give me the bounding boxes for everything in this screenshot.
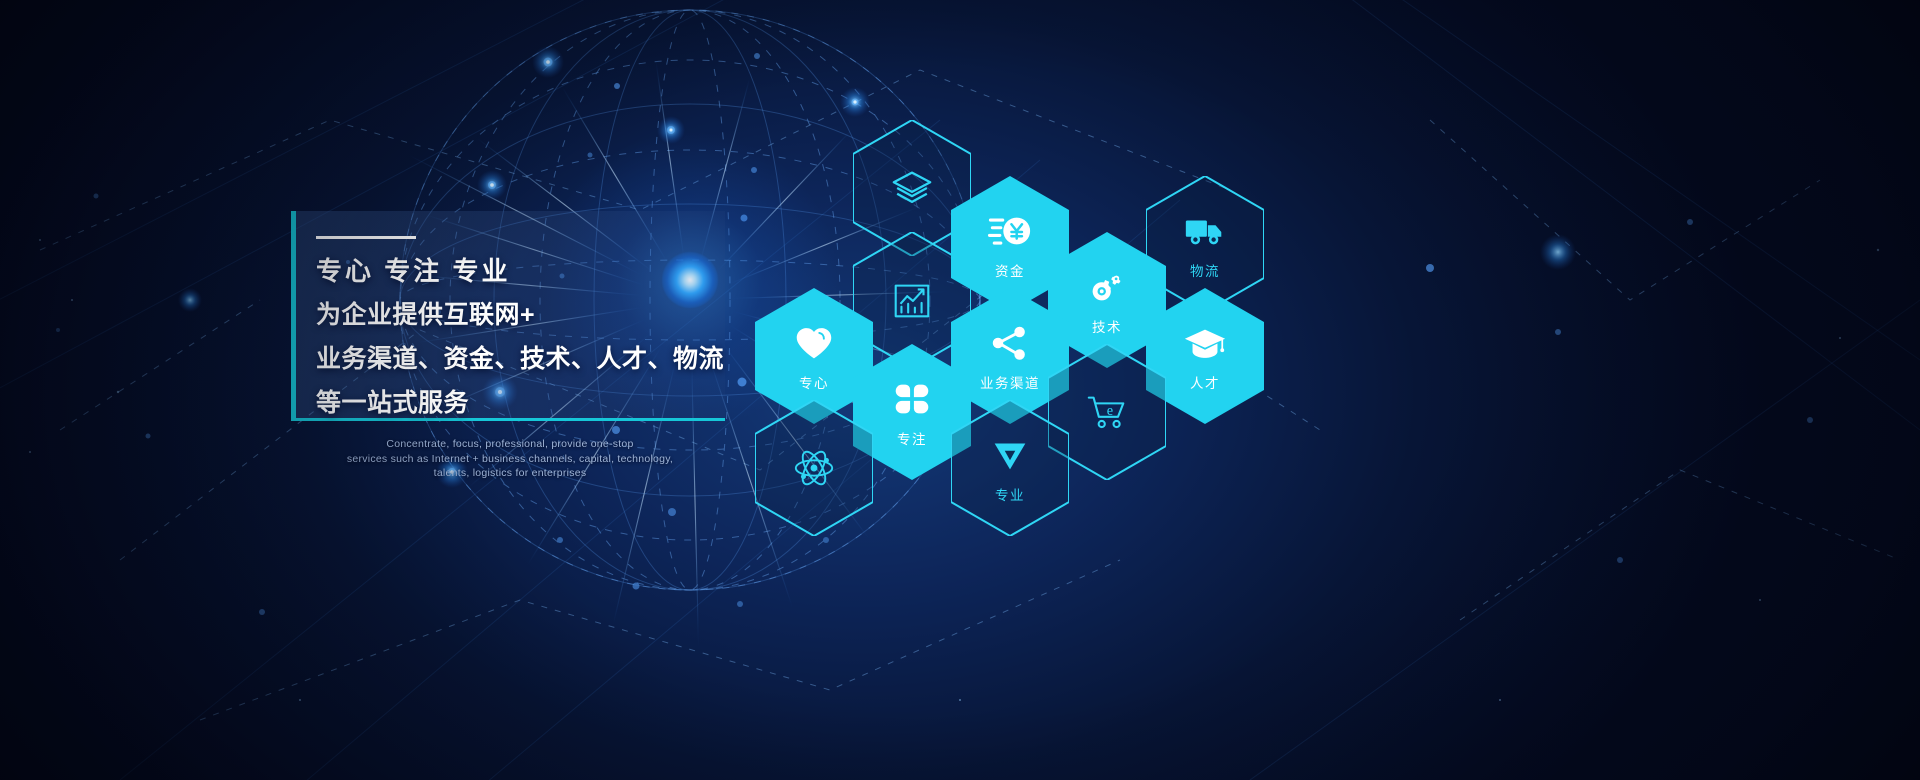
truck-icon — [1182, 208, 1228, 254]
gears-icon — [1084, 264, 1130, 310]
hex-label: 专注 — [897, 428, 927, 448]
diamond-icon — [987, 432, 1033, 478]
hex-label: 人才 — [1190, 372, 1220, 392]
atom-icon — [791, 445, 837, 491]
hex-label: 专心 — [799, 372, 829, 392]
hero-banner: 专心 专注 专业 为企业提供互联网+ 业务渠道、资金、技术、人才、物流 等一站式… — [0, 0, 1920, 780]
hex-tile-atom[interactable] — [755, 400, 873, 536]
hexagon-cluster: 资金 物流 技术 专心 业务渠道 人才 — [0, 0, 1920, 780]
heart-icon — [791, 320, 837, 366]
hex-label: 专业 — [995, 484, 1025, 504]
hex-label: 业务渠道 — [980, 372, 1040, 392]
layers-icon — [889, 165, 935, 211]
share-nodes-icon — [987, 320, 1033, 366]
growth-chart-icon — [889, 277, 935, 323]
svg-text:e: e — [1107, 403, 1113, 419]
four-petal-icon — [889, 376, 935, 422]
e-cart-icon: e — [1084, 389, 1130, 435]
graduation-cap-icon — [1182, 320, 1228, 366]
hex-label: 资金 — [995, 260, 1025, 280]
yen-coin-icon — [987, 208, 1033, 254]
hex-label: 物流 — [1190, 260, 1220, 280]
hex-label: 技术 — [1092, 316, 1122, 336]
hex-tile-pro[interactable]: 专业 — [951, 400, 1069, 536]
